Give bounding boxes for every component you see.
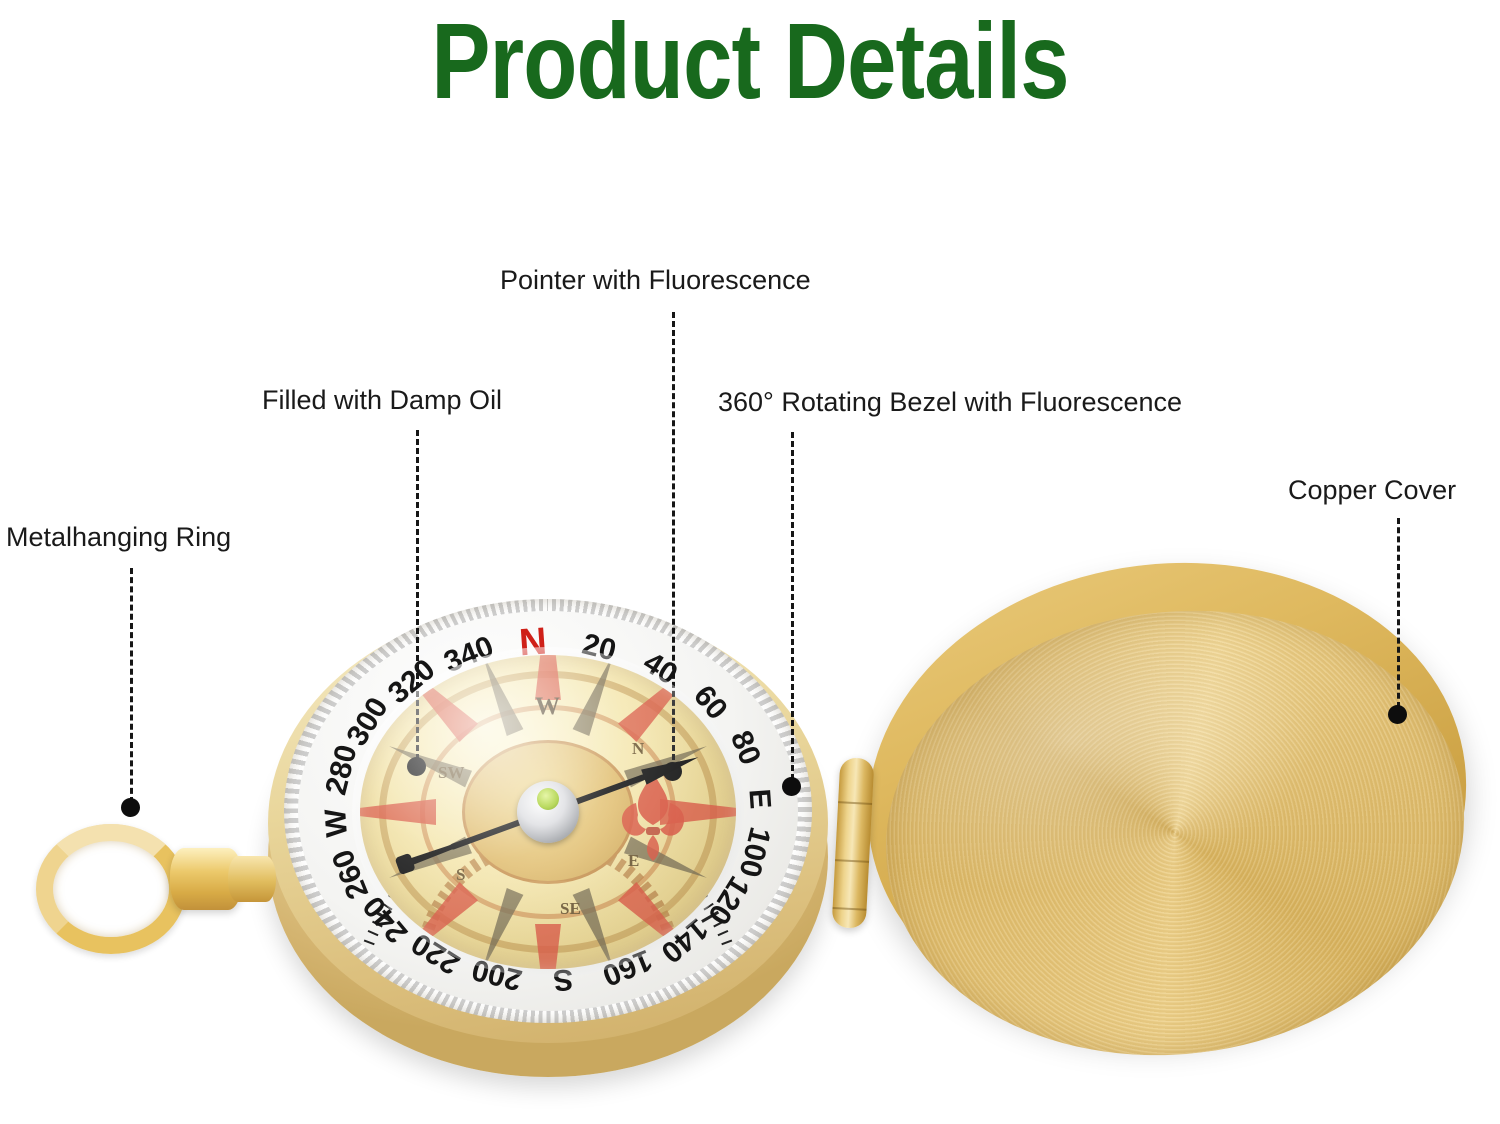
dial-letter-s: S	[456, 865, 465, 885]
callout-dot-rotating-bezel	[782, 777, 801, 796]
dial-letter-w: W	[535, 693, 560, 721]
callout-dot-copper-cover	[1388, 705, 1407, 724]
copper-cover-product-image	[845, 560, 1485, 1070]
product-details-page: Product Details N20406080E100120140160S2…	[0, 0, 1500, 1124]
page-title: Product Details	[135, 4, 1365, 117]
callout-label-pointer-with-fluorescence: Pointer with Fluorescence	[500, 266, 811, 296]
dial-letter-sw: SW	[438, 763, 464, 783]
ring-crown-neck	[228, 856, 276, 902]
callout-leader-line-pointer-with-fluorescence	[672, 312, 675, 760]
callout-label-rotating-bezel: 360° Rotating Bezel with Fluorescence	[718, 388, 1182, 418]
callout-label-copper-cover: Copper Cover	[1288, 476, 1456, 506]
callout-leader-line-filled-with-damp-oil	[416, 430, 419, 760]
dial-letter-n: N	[632, 739, 644, 759]
callout-dot-metalhanging-ring	[121, 798, 140, 817]
compass-product-image: N20406080E100120140160S200220240260W2803…	[248, 585, 848, 1085]
callout-label-metalhanging-ring: Metalhanging Ring	[6, 523, 231, 553]
callout-dot-filled-with-damp-oil	[407, 757, 426, 776]
callout-label-filled-with-damp-oil: Filled with Damp Oil	[262, 386, 502, 416]
callout-leader-line-rotating-bezel	[791, 432, 794, 780]
callout-leader-line-copper-cover	[1397, 518, 1400, 708]
ring-loop[interactable]	[36, 824, 186, 954]
metal-hanging-ring[interactable]	[30, 812, 275, 972]
callout-leader-line-metalhanging-ring	[130, 568, 133, 803]
dial-letter-se: SE	[560, 899, 581, 919]
